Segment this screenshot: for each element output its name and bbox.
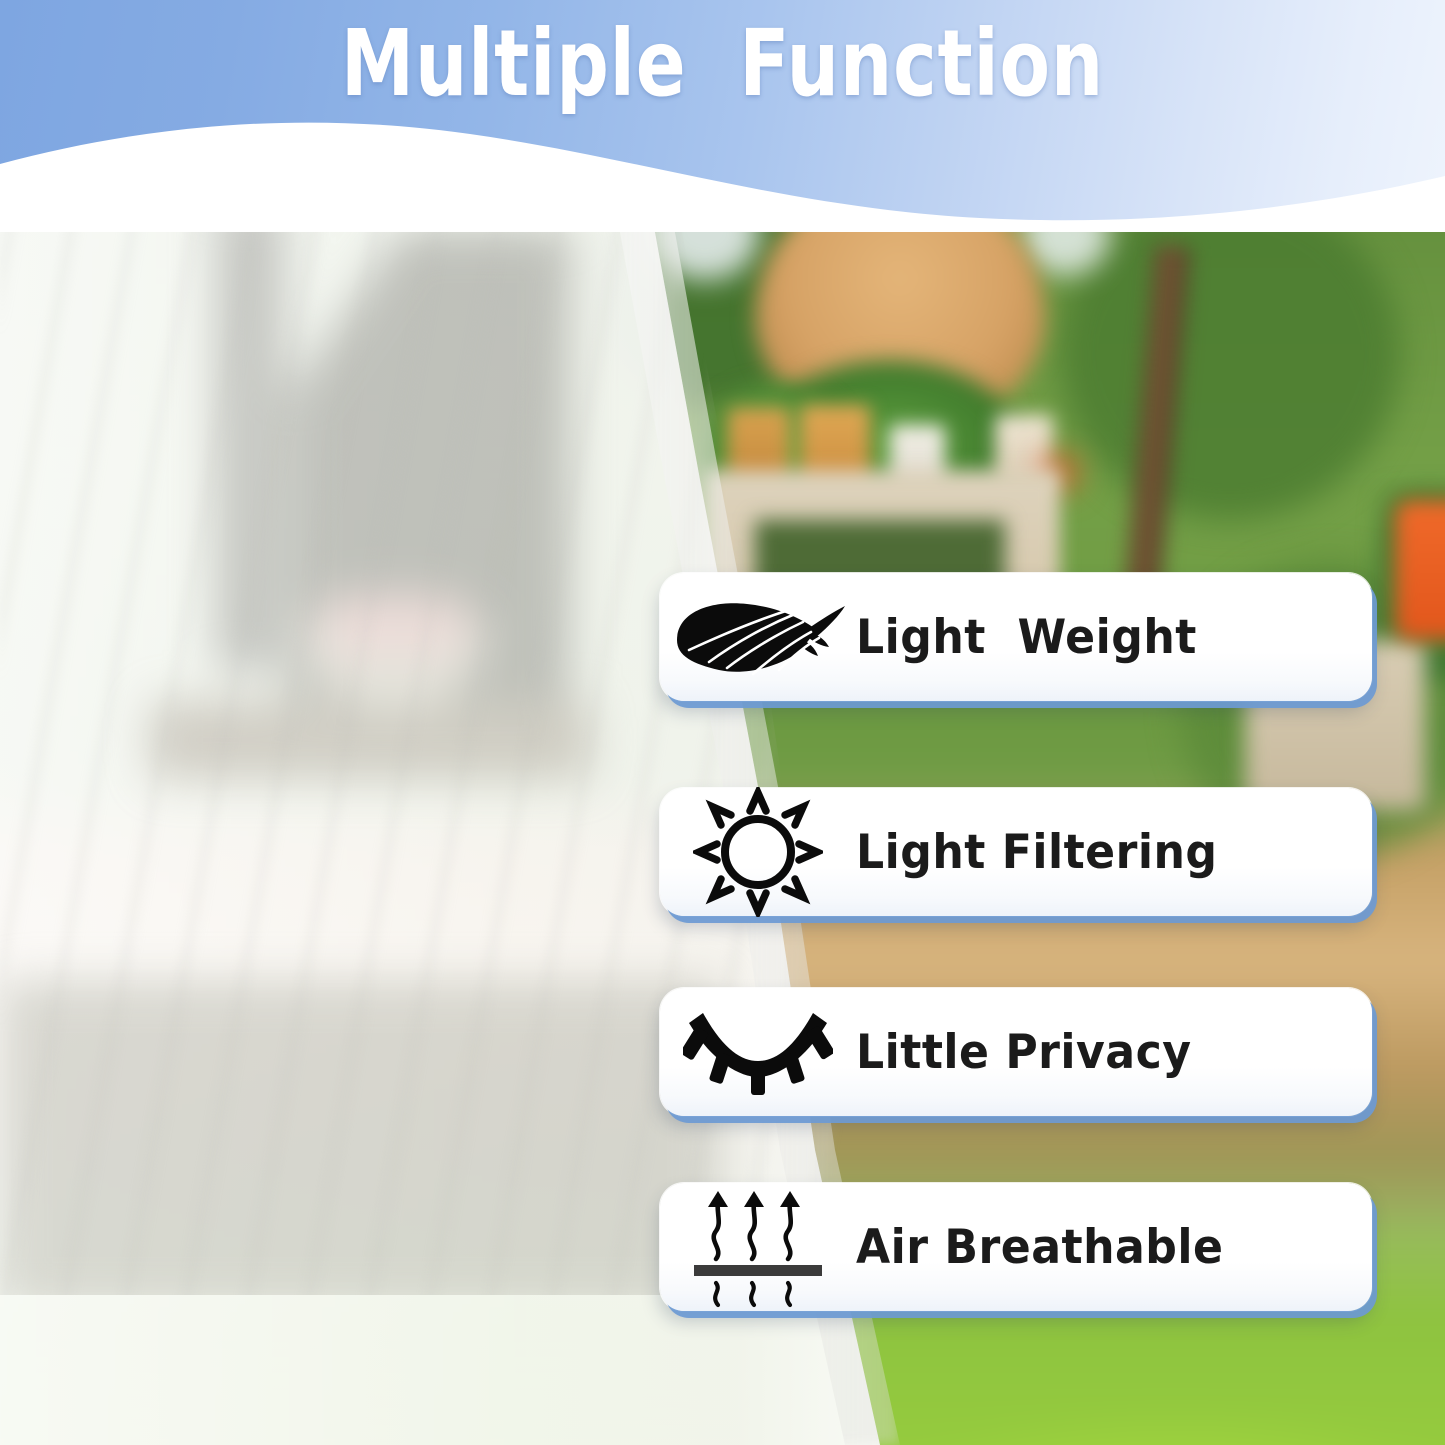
feature-card-little-privacy[interactable]: Little Privacy (660, 988, 1372, 1116)
feature-label: Light Filtering (856, 825, 1217, 880)
product-feature-banner: Multiple Function (0, 0, 1445, 1445)
feature-card-light-weight[interactable]: Light Weight (660, 573, 1372, 701)
feature-label: Little Privacy (856, 1025, 1192, 1080)
closed-eye-lash-icon (660, 988, 856, 1116)
feature-card-light-filtering[interactable]: Light Filtering (660, 788, 1372, 916)
feature-label: Air Breathable (856, 1220, 1223, 1275)
feature-card-list: Light Weight (0, 0, 1445, 1445)
sun-icon (660, 788, 856, 916)
air-breathable-icon (660, 1183, 856, 1311)
feather-icon (660, 573, 856, 701)
feature-card-air-breathable[interactable]: Air Breathable (660, 1183, 1372, 1311)
feature-label: Light Weight (856, 610, 1197, 665)
